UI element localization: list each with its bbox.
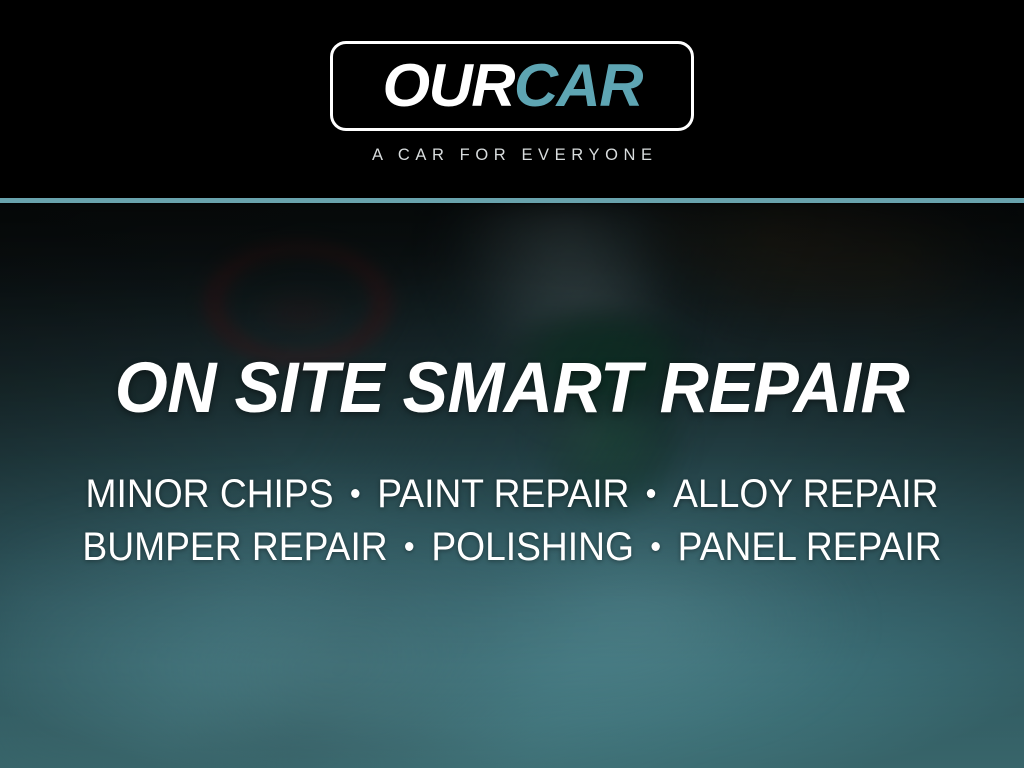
- teal-divider-line: [0, 198, 1024, 203]
- bullet-separator-icon: [351, 489, 359, 498]
- logo-lockup[interactable]: OURCAR A CAR FOR EVERYONE: [0, 0, 1024, 165]
- service-item: BUMPER REPAIR: [82, 521, 387, 574]
- header-bar: OURCAR A CAR FOR EVERYONE: [0, 0, 1024, 198]
- logo-outline-box: OURCAR: [330, 41, 694, 131]
- hero-headline: ON SITE SMART REPAIR: [20, 353, 1003, 424]
- hero-copy-block: ON SITE SMART REPAIR MINOR CHIPS PAINT R…: [0, 203, 1024, 574]
- services-list: MINOR CHIPS PAINT REPAIR ALLOY REPAIR BU…: [0, 468, 1024, 574]
- service-item: POLISHING: [431, 521, 634, 574]
- service-line: MINOR CHIPS PAINT REPAIR ALLOY REPAIR: [36, 468, 988, 521]
- promotional-banner: OURCAR A CAR FOR EVERYONE ON SITE SMART …: [0, 0, 1024, 768]
- bullet-separator-icon: [647, 489, 655, 498]
- wordmark-accent: CAR: [514, 52, 642, 119]
- wordmark-primary: OUR: [382, 52, 513, 119]
- service-item: PAINT REPAIR: [377, 468, 629, 521]
- bullet-separator-icon: [405, 542, 413, 551]
- service-item: PANEL REPAIR: [678, 521, 942, 574]
- service-line: BUMPER REPAIR POLISHING PANEL REPAIR: [36, 521, 988, 574]
- brand-wordmark: OURCAR: [382, 56, 641, 116]
- service-item: ALLOY REPAIR: [673, 468, 938, 521]
- hero-section: ON SITE SMART REPAIR MINOR CHIPS PAINT R…: [0, 203, 1024, 768]
- bullet-separator-icon: [652, 542, 660, 551]
- service-item: MINOR CHIPS: [86, 468, 334, 521]
- brand-tagline: A CAR FOR EVERYONE: [366, 146, 657, 165]
